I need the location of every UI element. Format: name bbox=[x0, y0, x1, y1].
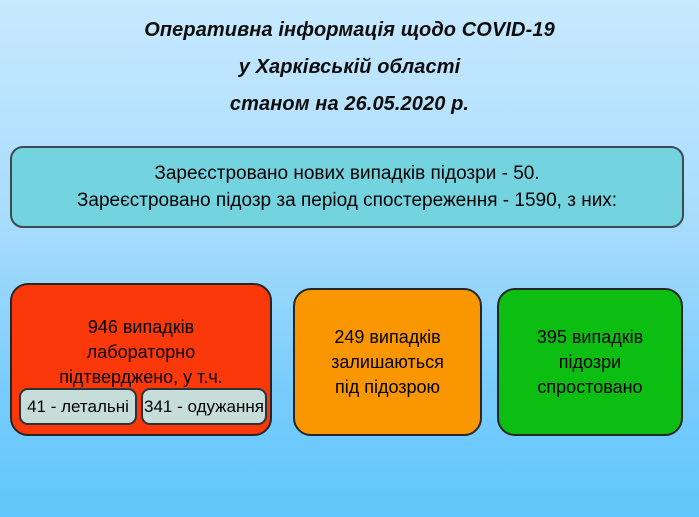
sub-box-fatal-label: 41 - летальні bbox=[27, 397, 129, 417]
confirmed-line-2: лабораторно bbox=[87, 340, 195, 365]
sub-box-recovered: 341 - одужання bbox=[141, 388, 267, 425]
stat-box-refuted: 395 випадків підозри спростовано bbox=[497, 288, 683, 436]
page-title: Оперативна інформація щодо COVID-19 у Ха… bbox=[0, 12, 699, 123]
refuted-line-3: спростовано bbox=[537, 375, 642, 400]
info-line-total-period: Зареєстровано підозр за період спостереж… bbox=[77, 187, 617, 214]
suspected-line-3: під підозрою bbox=[335, 375, 440, 400]
sub-box-fatal: 41 - летальні bbox=[19, 388, 137, 425]
title-line-3: станом на 26.05.2020 р. bbox=[0, 86, 699, 123]
title-line-1: Оперативна інформація щодо COVID-19 bbox=[0, 12, 699, 49]
suspected-line-1: 249 випадків bbox=[334, 325, 440, 350]
confirmed-line-1: 946 випадків bbox=[88, 315, 194, 340]
info-line-new-cases: Зареєстровано нових випадків підозри - 5… bbox=[154, 160, 539, 187]
sub-box-recovered-label: 341 - одужання bbox=[144, 397, 264, 417]
registered-suspicions-box: Зареєстровано нових випадків підозри - 5… bbox=[10, 146, 684, 228]
title-line-2: у Харківській області bbox=[0, 49, 699, 86]
suspected-line-2: залишаються bbox=[331, 350, 444, 375]
refuted-line-2: підозри bbox=[559, 350, 621, 375]
slide-canvas: Оперативна інформація щодо COVID-19 у Ха… bbox=[0, 0, 699, 517]
confirmed-sub-box-row: 41 - летальні 341 - одужання bbox=[19, 388, 267, 425]
refuted-line-1: 395 випадків bbox=[537, 325, 643, 350]
confirmed-line-3: підтверджено, у т.ч. bbox=[59, 365, 223, 390]
stat-box-still-suspected: 249 випадків залишаються під підозрою bbox=[293, 288, 482, 436]
stat-box-lab-confirmed: 946 випадків лабораторно підтверджено, у… bbox=[10, 283, 272, 436]
